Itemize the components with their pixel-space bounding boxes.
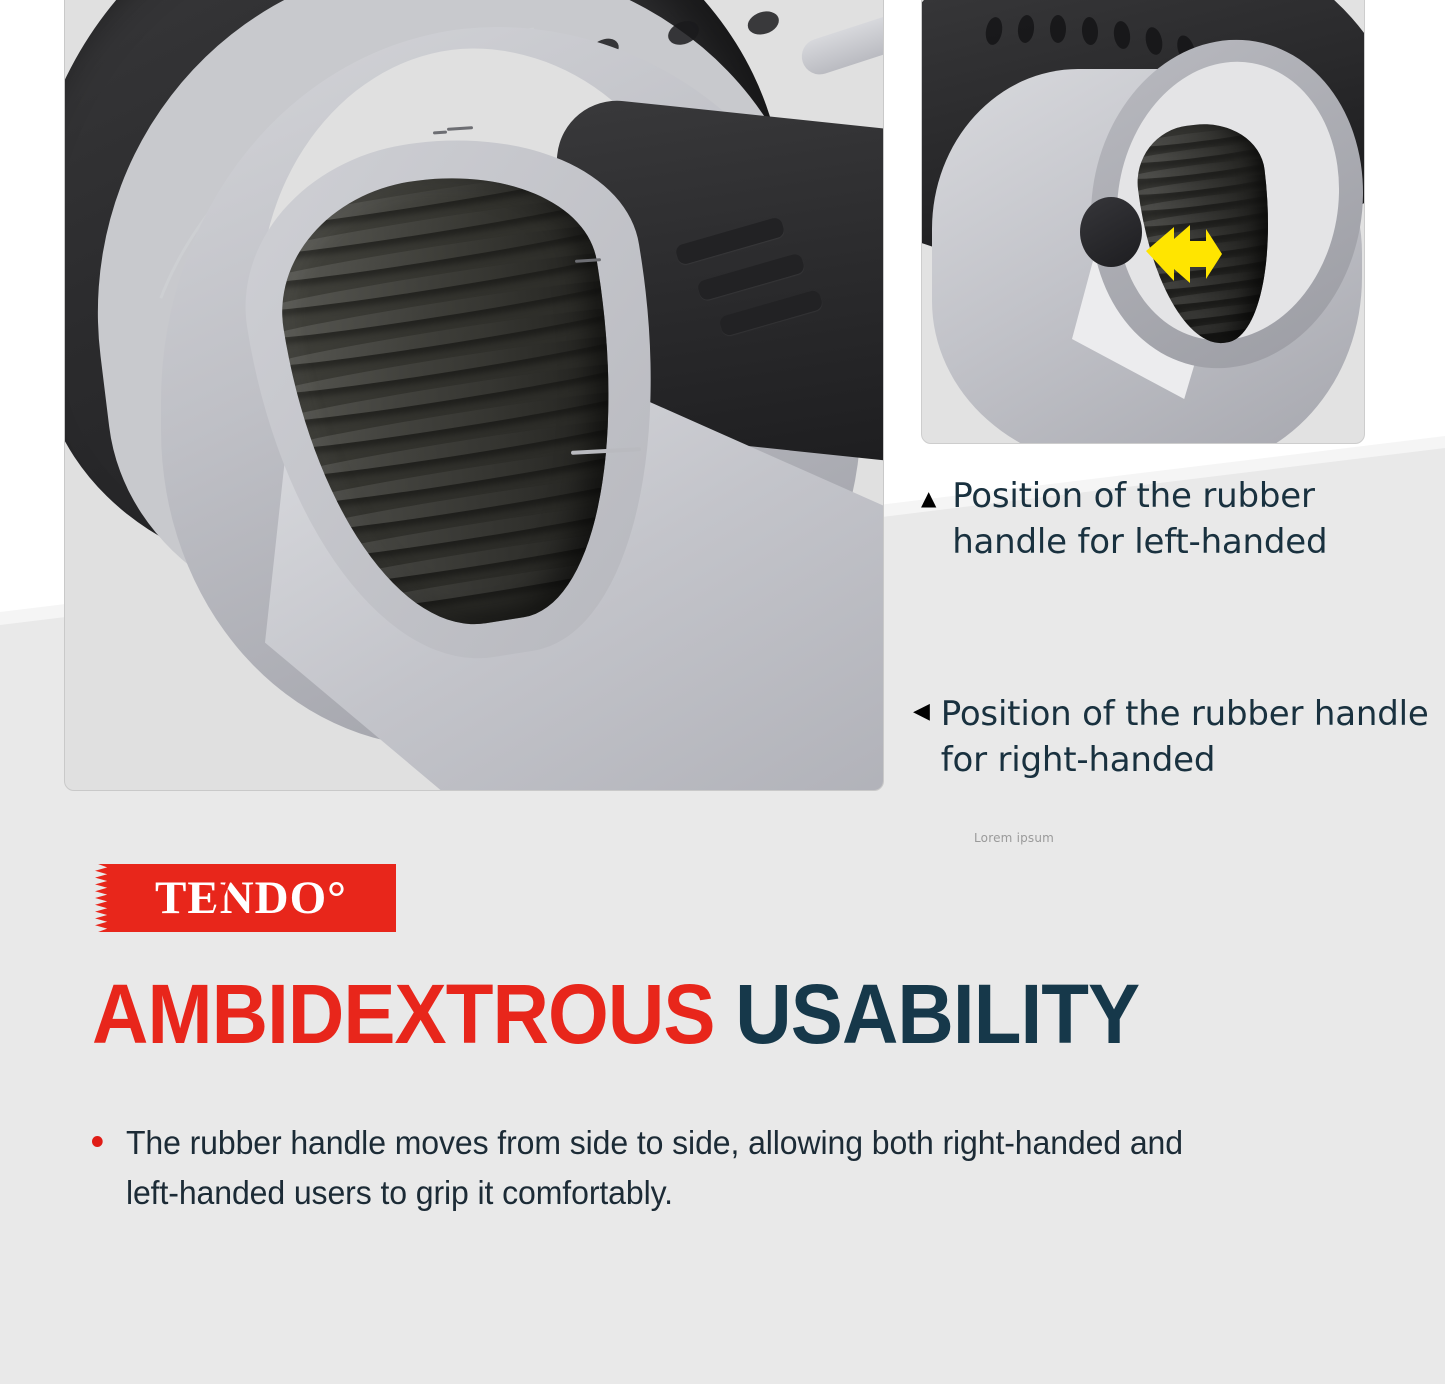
brand-logo: TENDO° bbox=[92, 864, 396, 932]
brand-name: TENDO bbox=[155, 871, 327, 925]
feature-bullet: The rubber handle moves from side to sid… bbox=[92, 1118, 1237, 1218]
hero-product-image bbox=[64, 0, 884, 791]
yellow-direction-arrow-icon bbox=[1144, 221, 1224, 287]
bullet-dot-icon bbox=[92, 1136, 103, 1147]
brand-logo-text: TENDO° bbox=[92, 864, 396, 932]
brand-degree-mark: ° bbox=[327, 871, 347, 925]
headline-word-dark: USABILITY bbox=[735, 967, 1139, 1061]
callout-right-handed-line1: Position of the rubber handle bbox=[941, 692, 1429, 738]
callout-left-handed: ▲ Position of the rubber handle for left… bbox=[921, 474, 1327, 565]
footnote-text: Lorem ipsum bbox=[974, 831, 1054, 845]
feature-bullet-text: The rubber handle moves from side to sid… bbox=[126, 1118, 1222, 1218]
callout-left-handed-line2: handle for left-handed bbox=[952, 520, 1327, 566]
inset-pivot-knob bbox=[1080, 197, 1142, 267]
infographic-page: ▲ Position of the rubber handle for left… bbox=[0, 0, 1445, 1384]
up-triangle-marker-icon: ▲ bbox=[921, 488, 936, 508]
callout-right-handed-text: Position of the rubber handle for right-… bbox=[941, 692, 1429, 783]
left-triangle-marker-icon: ◀ bbox=[913, 701, 930, 723]
page-title: AMBIDEXTROUS USABILITY bbox=[92, 972, 1139, 1056]
inset-scene bbox=[922, 0, 1364, 443]
callout-left-handed-line1: Position of the rubber bbox=[952, 474, 1327, 520]
inset-product-image bbox=[921, 0, 1365, 444]
callout-left-handed-text: Position of the rubber handle for left-h… bbox=[952, 474, 1327, 565]
hero-scene bbox=[65, 0, 883, 790]
callout-right-handed-line2: for right-handed bbox=[941, 738, 1429, 784]
headline-word-accent: AMBIDEXTROUS bbox=[92, 967, 715, 1061]
callout-right-handed: ◀ Position of the rubber handle for righ… bbox=[913, 692, 1429, 783]
